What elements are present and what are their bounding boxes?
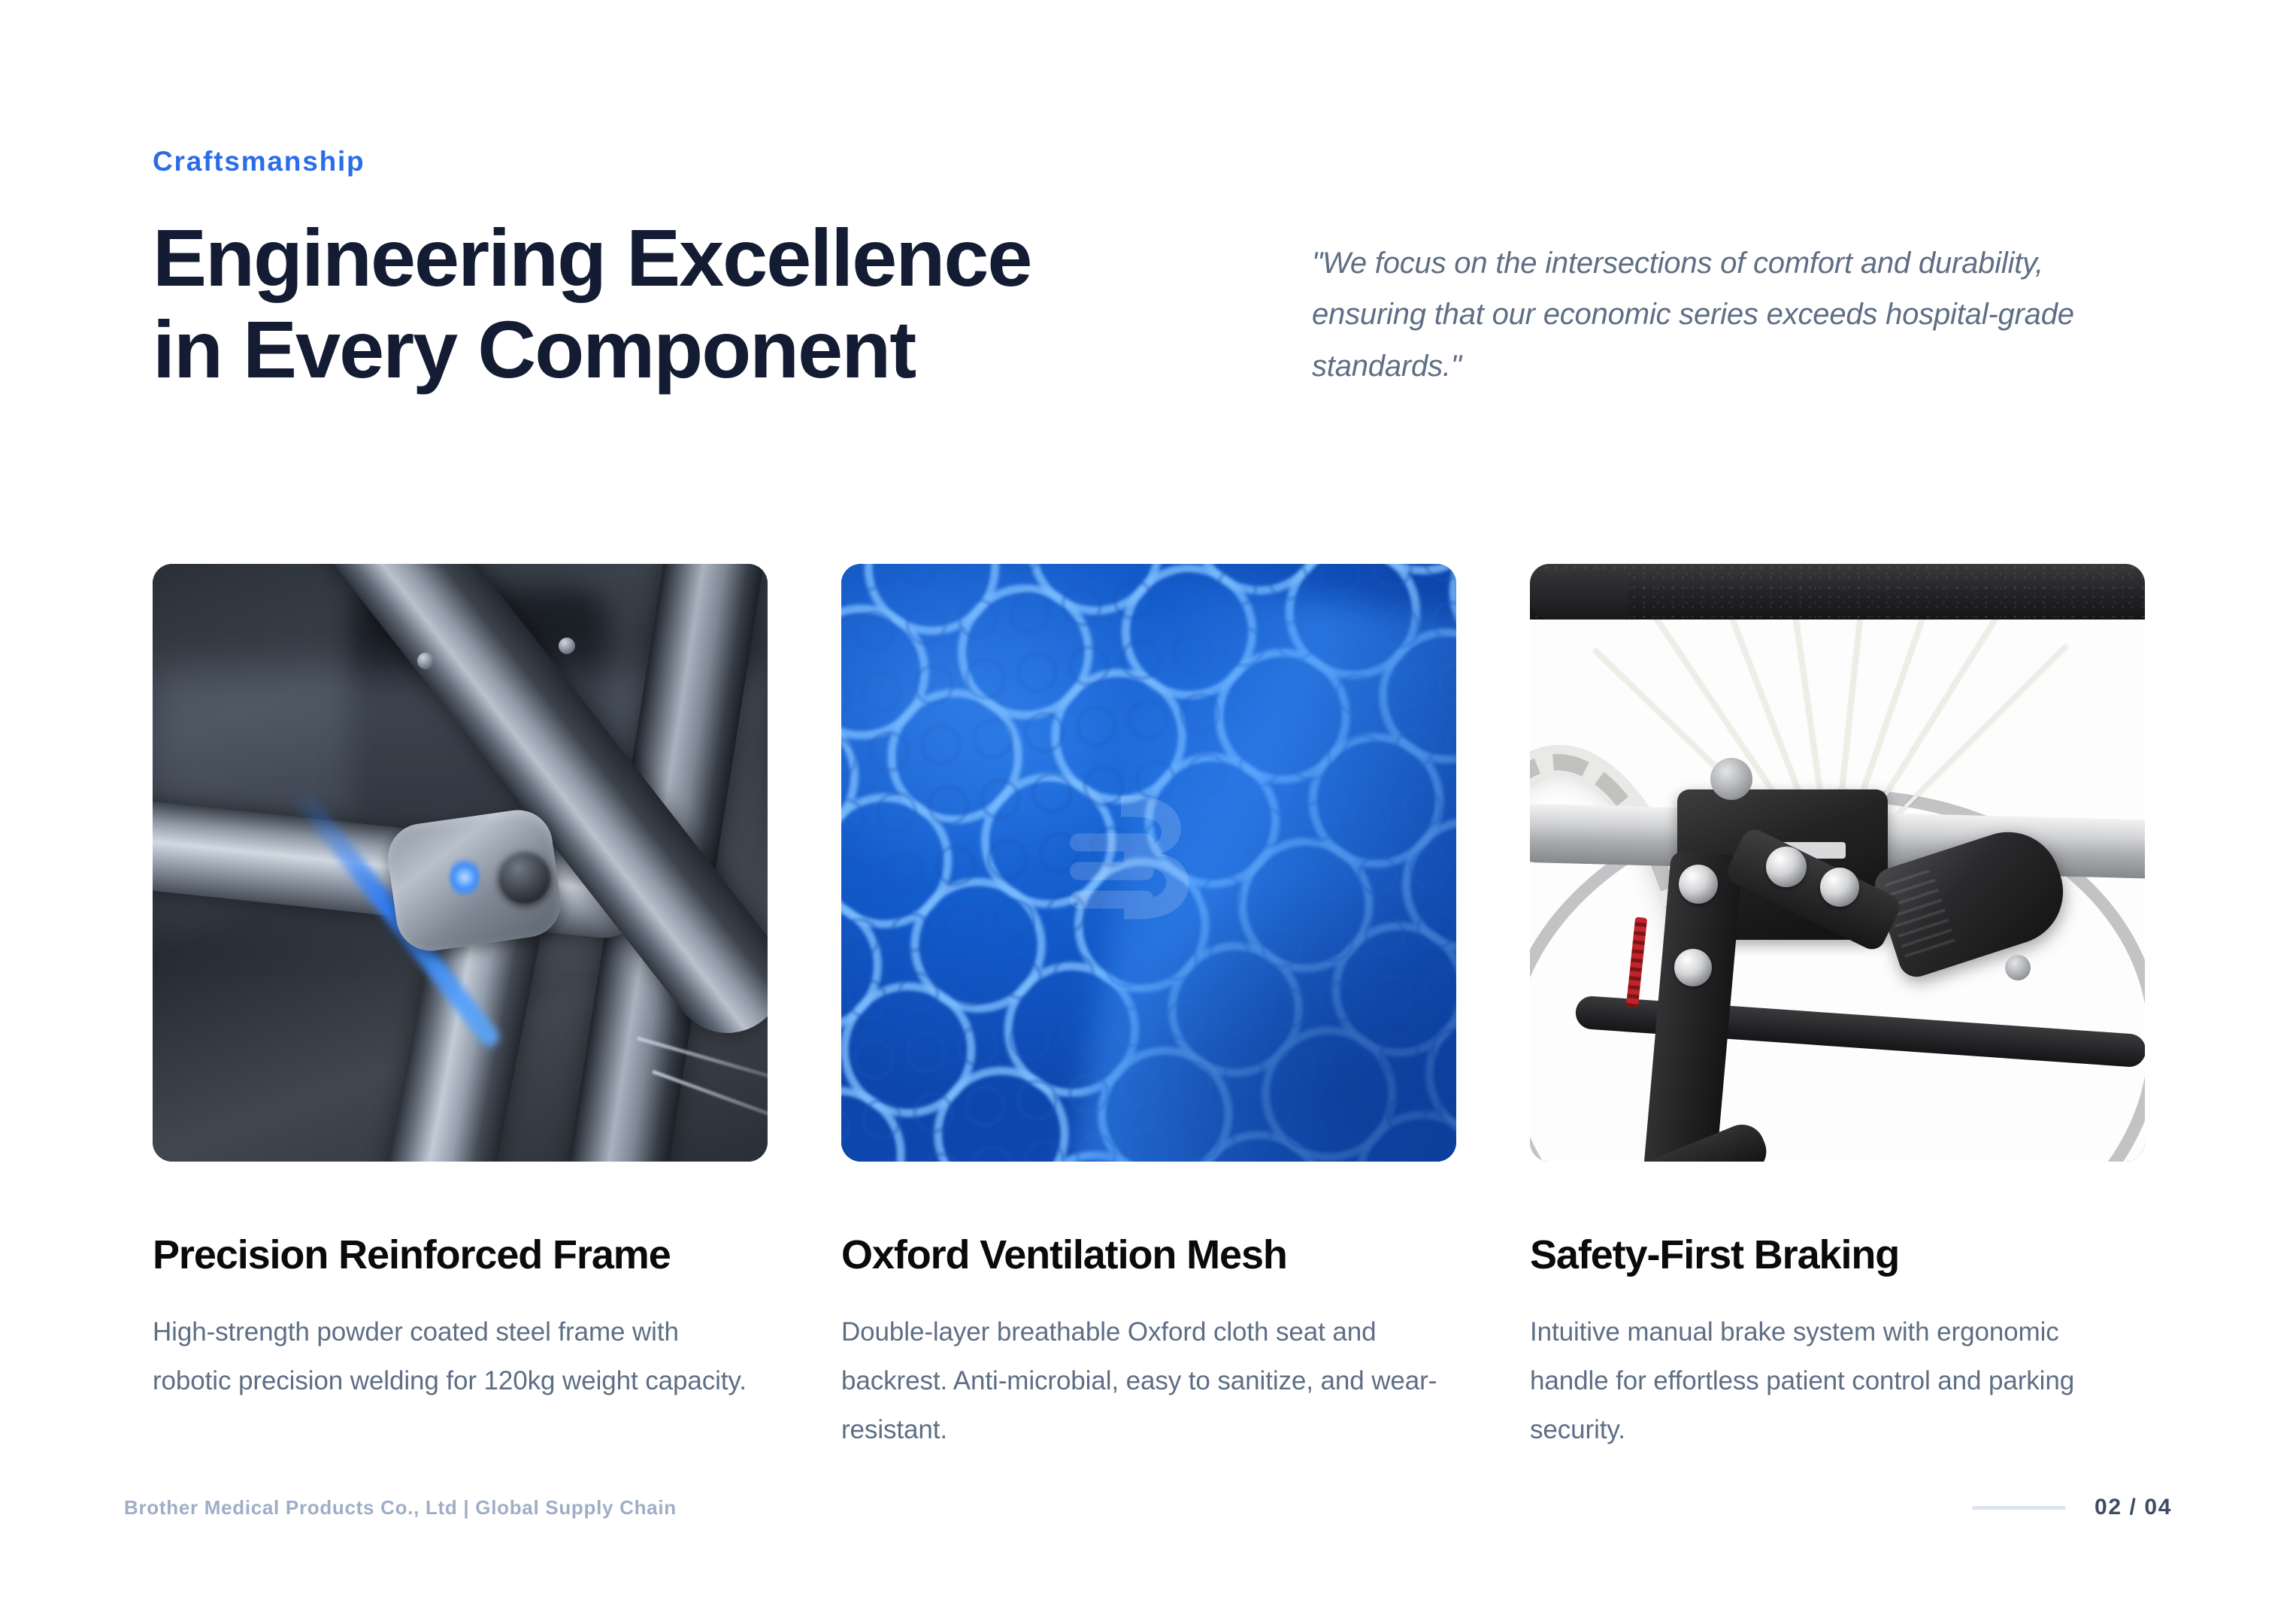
- feature-card: Precision Reinforced Frame High-strength…: [153, 564, 768, 1455]
- oxford-ventilation-mesh-photo: [841, 564, 1456, 1162]
- slide-header: Craftsmanship Engineering Excellence in …: [153, 147, 2146, 395]
- feature-card: Oxford Ventilation Mesh Double-layer bre…: [841, 564, 1456, 1455]
- card-title: Oxford Ventilation Mesh: [841, 1233, 1456, 1277]
- page-number: 02 / 04: [2095, 1495, 2172, 1520]
- footer-pagination: 02 / 04: [1972, 1495, 2172, 1520]
- card-description: High-strength powder coated steel frame …: [153, 1308, 754, 1406]
- precision-reinforced-frame-photo: [153, 564, 768, 1162]
- safety-first-braking-photo: [1530, 564, 2145, 1162]
- slide-root: Craftsmanship Engineering Excellence in …: [0, 0, 2296, 1624]
- page-title: Engineering Excellence in Every Componen…: [153, 212, 1031, 395]
- card-description: Intuitive manual brake system with ergon…: [1530, 1308, 2131, 1454]
- section-eyebrow: Craftsmanship: [153, 147, 2146, 177]
- footer-company: Brother Medical Products Co., Ltd | Glob…: [124, 1496, 677, 1519]
- feature-card: Safety-First Braking Intuitive manual br…: [1530, 564, 2145, 1455]
- card-description: Double-layer breathable Oxford cloth sea…: [841, 1308, 1443, 1454]
- header-row: Engineering Excellence in Every Componen…: [153, 212, 2146, 395]
- brand-watermark-icon: [1062, 789, 1235, 936]
- card-title: Safety-First Braking: [1530, 1233, 2145, 1277]
- slide-footer: Brother Medical Products Co., Ltd | Glob…: [124, 1495, 2172, 1520]
- feature-card-grid: Precision Reinforced Frame High-strength…: [153, 564, 2146, 1455]
- footer-divider-rule: [1972, 1506, 2066, 1510]
- card-title: Precision Reinforced Frame: [153, 1233, 768, 1277]
- pull-quote: "We focus on the intersections of comfor…: [1312, 238, 2146, 392]
